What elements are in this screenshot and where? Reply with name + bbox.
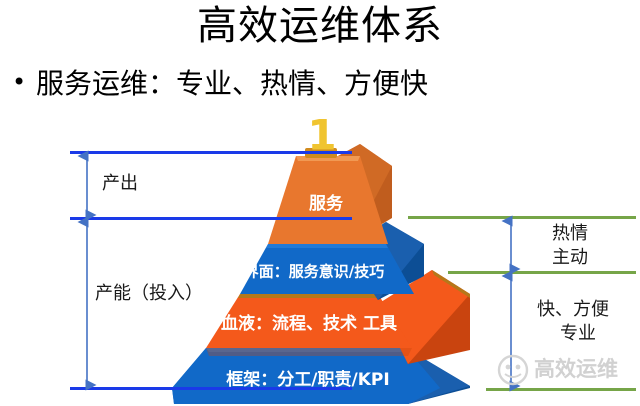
right-label-passion-line1: 热情 [552, 223, 588, 244]
layer-blood-label: 血液：流程、技术 工具 [221, 313, 397, 334]
watermark-text: 高效运维 [534, 357, 618, 381]
bullet-marker: • [12, 70, 26, 94]
layer-blood-edge-highlight [238, 294, 381, 298]
right-label-speed-line1: 快、方便 [537, 299, 609, 320]
watermark-circle-icon [499, 356, 527, 384]
watermark-logo: 高效运维 [499, 356, 618, 384]
watermark-dot-left-icon [506, 365, 511, 370]
pyramid-diagram: 框架：分工/职责/KPI 血液：流程、技术 工具 [0, 108, 640, 406]
left-label-output: 产出 [102, 173, 138, 194]
layer-framework-label: 框架：分工/职责/KPI [226, 369, 389, 390]
left-label-capacity: 产能（投入） [95, 283, 203, 304]
watermark-dot-right-icon [516, 365, 521, 370]
bullet-text: 服务运维：专业、热情、方便快 [36, 67, 428, 101]
bullet-row: • 服务运维：专业、热情、方便快 [12, 62, 628, 106]
watermark-smile-icon [505, 374, 521, 377]
layer-blood-shadow [206, 348, 412, 356]
layer-interface-edge-highlight [266, 244, 388, 248]
right-label-speed-line2: 专业 [560, 323, 596, 344]
layer-interface-label: 界面：服务意识/技巧 [244, 263, 384, 281]
layer-service-label: 服务 [309, 193, 344, 214]
slide-canvas: 高效运维体系 • 服务运维：专业、热情、方便快 [0, 0, 640, 406]
page-title: 高效运维体系 [0, 2, 640, 50]
right-label-passion-line2: 主动 [552, 247, 588, 268]
